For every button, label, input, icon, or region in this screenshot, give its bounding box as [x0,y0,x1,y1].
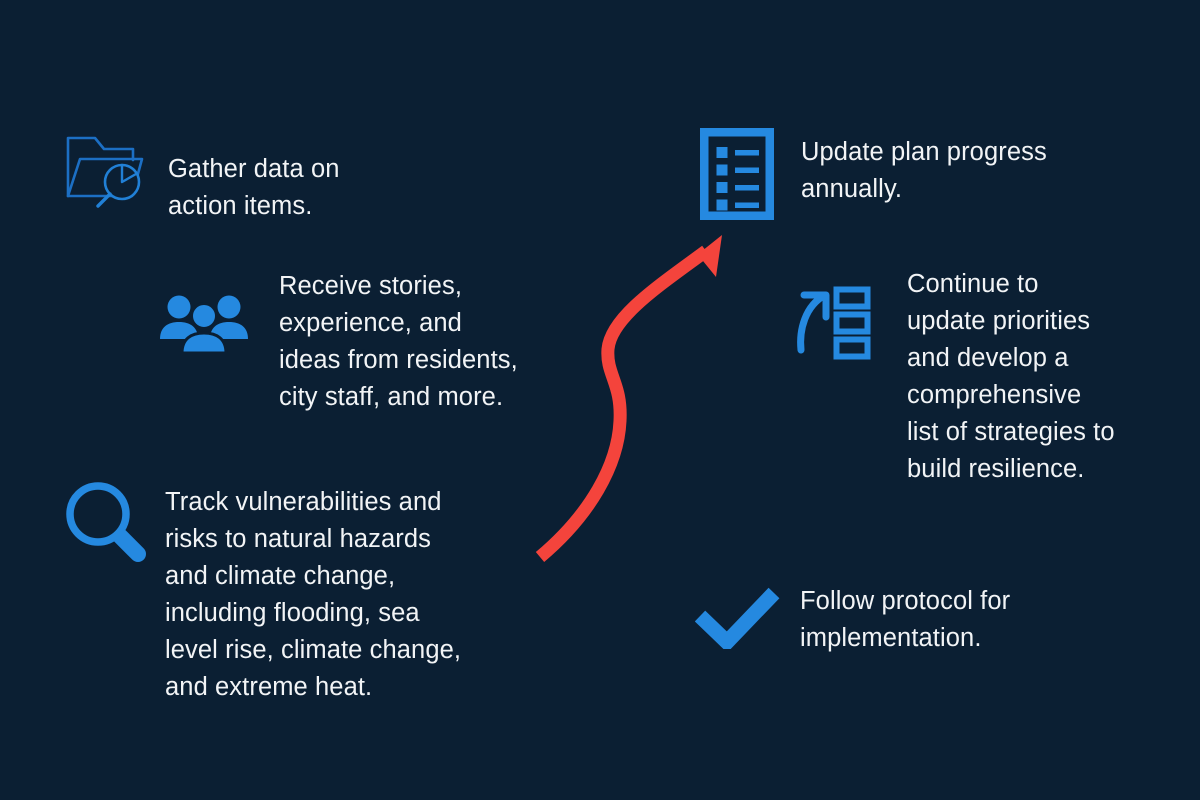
infographic-canvas: Gather data on action items. Receive sto… [0,0,1200,800]
step-follow-protocol: Follow protocol for implementation. [695,583,1010,657]
step-receive-stories: Receive stories, experience, and ideas f… [160,268,518,416]
step-gather-data: Gather data on action items. [62,130,340,225]
curved-progress-arrow [510,225,750,575]
step-track-vulnerabilities: Track vulnerabilities and risks to natur… [60,470,461,706]
step-update-plan: Update plan progress annually. [700,128,1047,220]
step-receive-stories-label: Receive stories, experience, and ideas f… [279,268,518,416]
step-update-plan-label: Update plan progress annually. [801,134,1047,208]
step-continue-update-priorities-label: Continue to update priorities and develo… [907,266,1115,488]
checkmark-icon [695,587,781,649]
step-continue-update-priorities: Continue to update priorities and develo… [795,284,1115,488]
people-group-icon [160,292,248,354]
folder-search-icon [62,130,150,208]
step-gather-data-label: Gather data on action items. [168,151,340,225]
update-list-arrow-icon [795,284,871,360]
magnifying-glass-icon [60,478,150,566]
checklist-document-icon [700,128,774,220]
step-track-vulnerabilities-label: Track vulnerabilities and risks to natur… [165,484,461,706]
step-follow-protocol-label: Follow protocol for implementation. [800,583,1010,657]
